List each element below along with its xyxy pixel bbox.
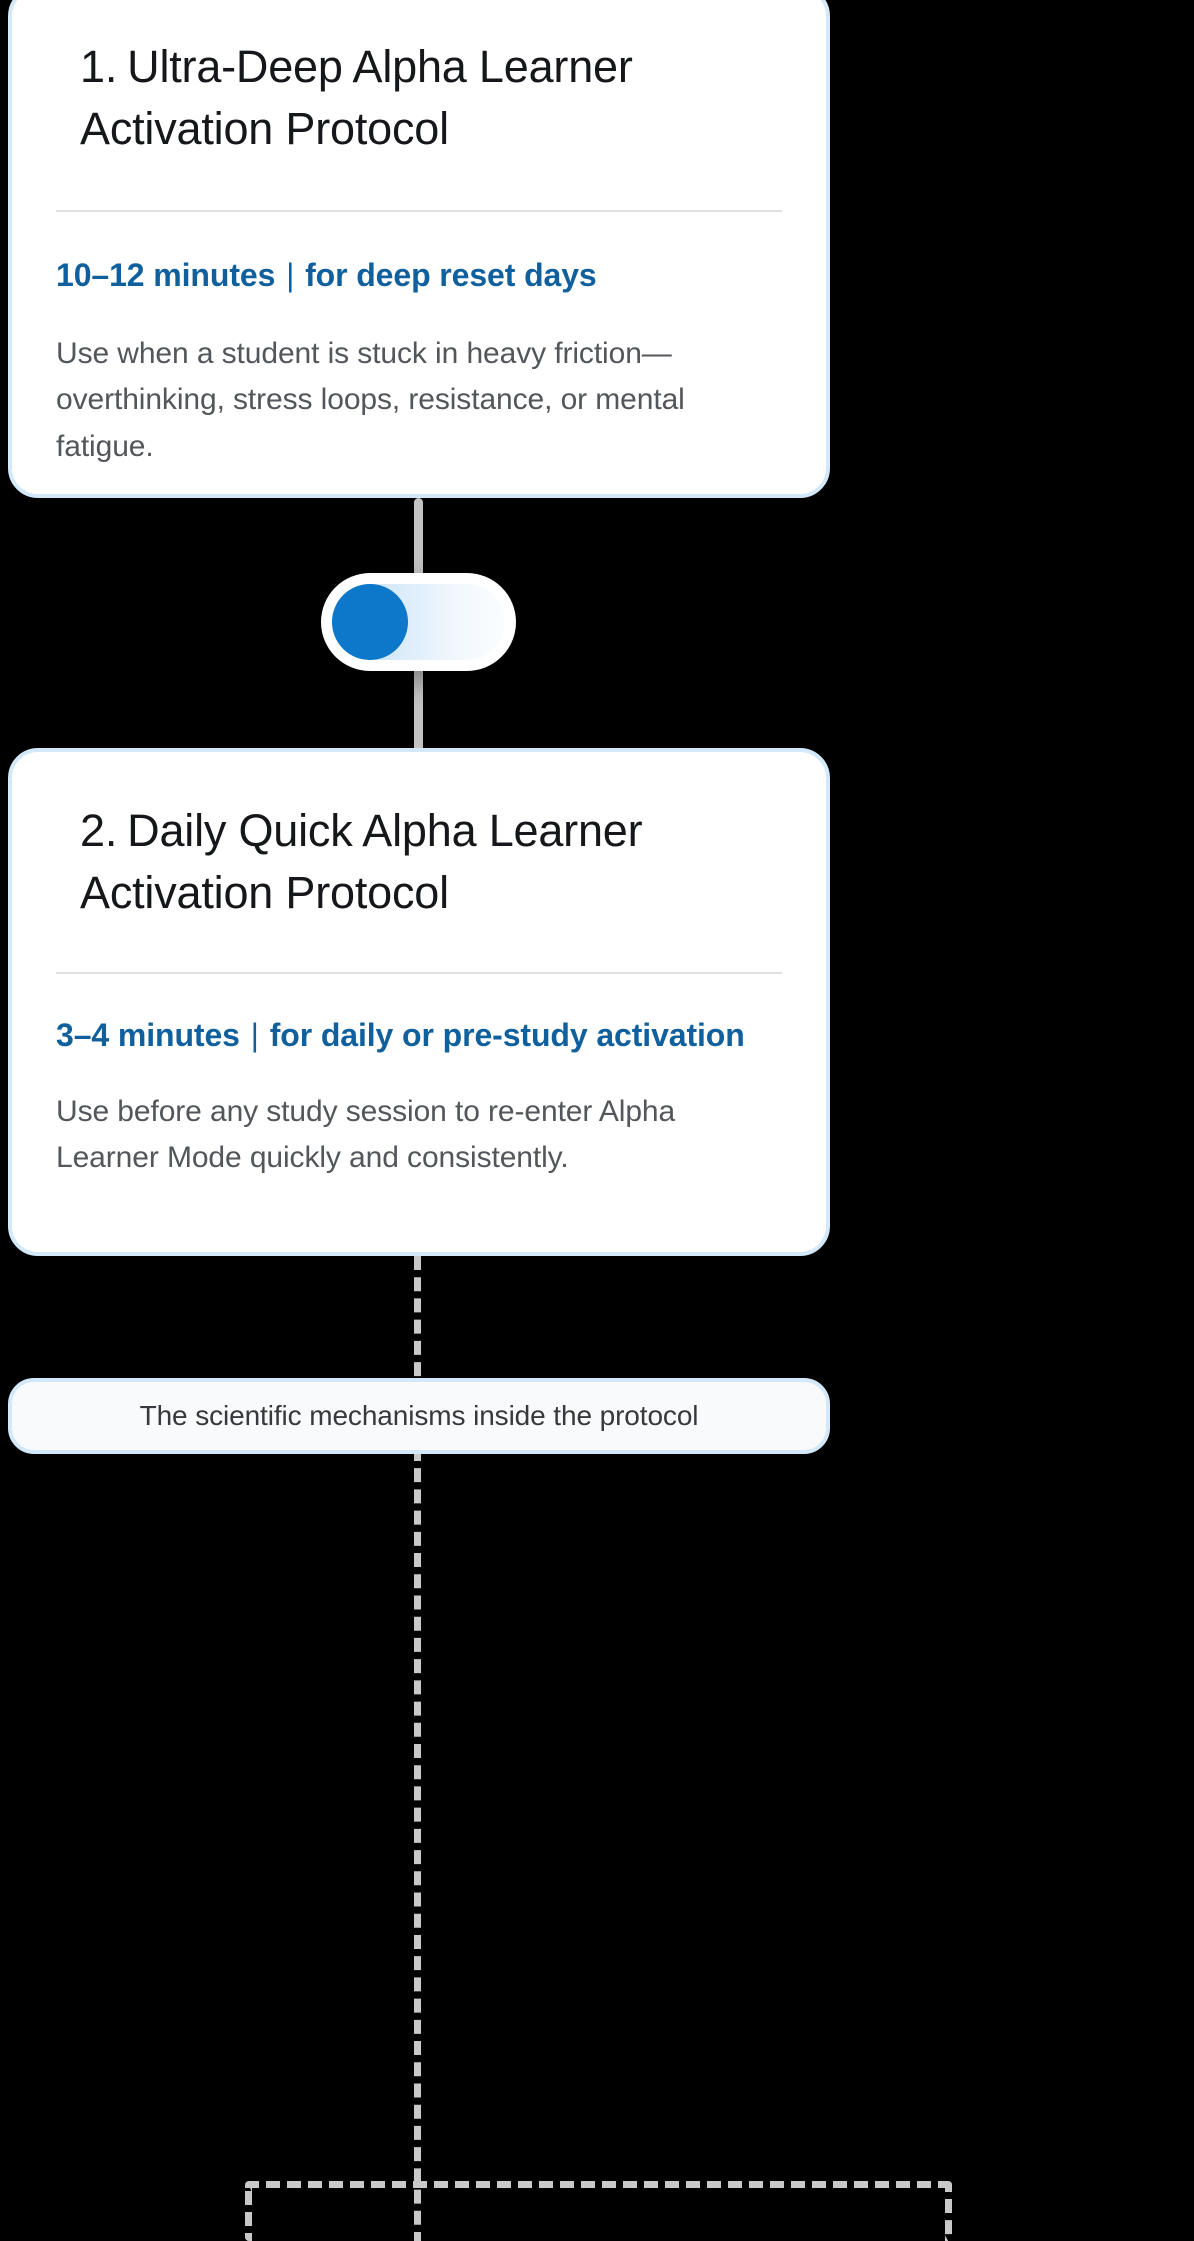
protocol-card-1-meta-separator: | — [284, 257, 296, 293]
protocol-toggle-switch[interactable] — [321, 573, 516, 671]
protocol-card-1-description: Use when a student is stuck in heavy fri… — [56, 331, 782, 471]
protocol-card-1-title: 1.Ultra-Deep Alpha Learner Activation Pr… — [56, 36, 782, 160]
protocol-card-2-description: Use before any study session to re-enter… — [56, 1089, 782, 1182]
protocol-card-2[interactable]: 2.Daily Quick Alpha Learner Activation P… — [8, 748, 830, 1256]
accordion-scientific-mechanisms[interactable]: The scientific mechanisms inside the pro… — [8, 1378, 830, 1454]
protocol-card-1-meta: 10–12 minutes | for deep reset days — [56, 252, 782, 298]
protocol-timeline-page: 1.Ultra-Deep Alpha Learner Activation Pr… — [0, 0, 1194, 2241]
protocol-card-2-number: 2. — [80, 805, 117, 856]
protocol-card-1-title-text: Ultra-Deep Alpha Learner Activation Prot… — [80, 41, 633, 154]
protocol-card-1-divider — [56, 210, 782, 212]
protocol-card-2-divider — [56, 972, 782, 974]
protocol-card-2-title-text: Daily Quick Alpha Learner Activation Pro… — [80, 805, 642, 918]
toggle-knob[interactable] — [332, 584, 408, 660]
protocol-card-2-context: for daily or pre-study activation — [270, 1017, 745, 1053]
dashed-outline-panel — [245, 2181, 952, 2241]
protocol-card-1[interactable]: 1.Ultra-Deep Alpha Learner Activation Pr… — [8, 0, 830, 498]
toggle-switch-icon[interactable] — [321, 573, 516, 671]
protocol-card-1-number: 1. — [80, 41, 117, 92]
protocol-card-1-duration: 10–12 minutes — [56, 257, 275, 293]
protocol-card-2-meta: 3–4 minutes | for daily or pre-study act… — [56, 1012, 782, 1058]
protocol-card-2-title: 2.Daily Quick Alpha Learner Activation P… — [56, 800, 782, 924]
protocol-card-2-duration: 3–4 minutes — [56, 1017, 240, 1053]
accordion-scientific-mechanisms-label: The scientific mechanisms inside the pro… — [140, 1400, 699, 1432]
protocol-card-1-context: for deep reset days — [305, 257, 597, 293]
protocol-card-2-meta-separator: | — [249, 1017, 261, 1053]
